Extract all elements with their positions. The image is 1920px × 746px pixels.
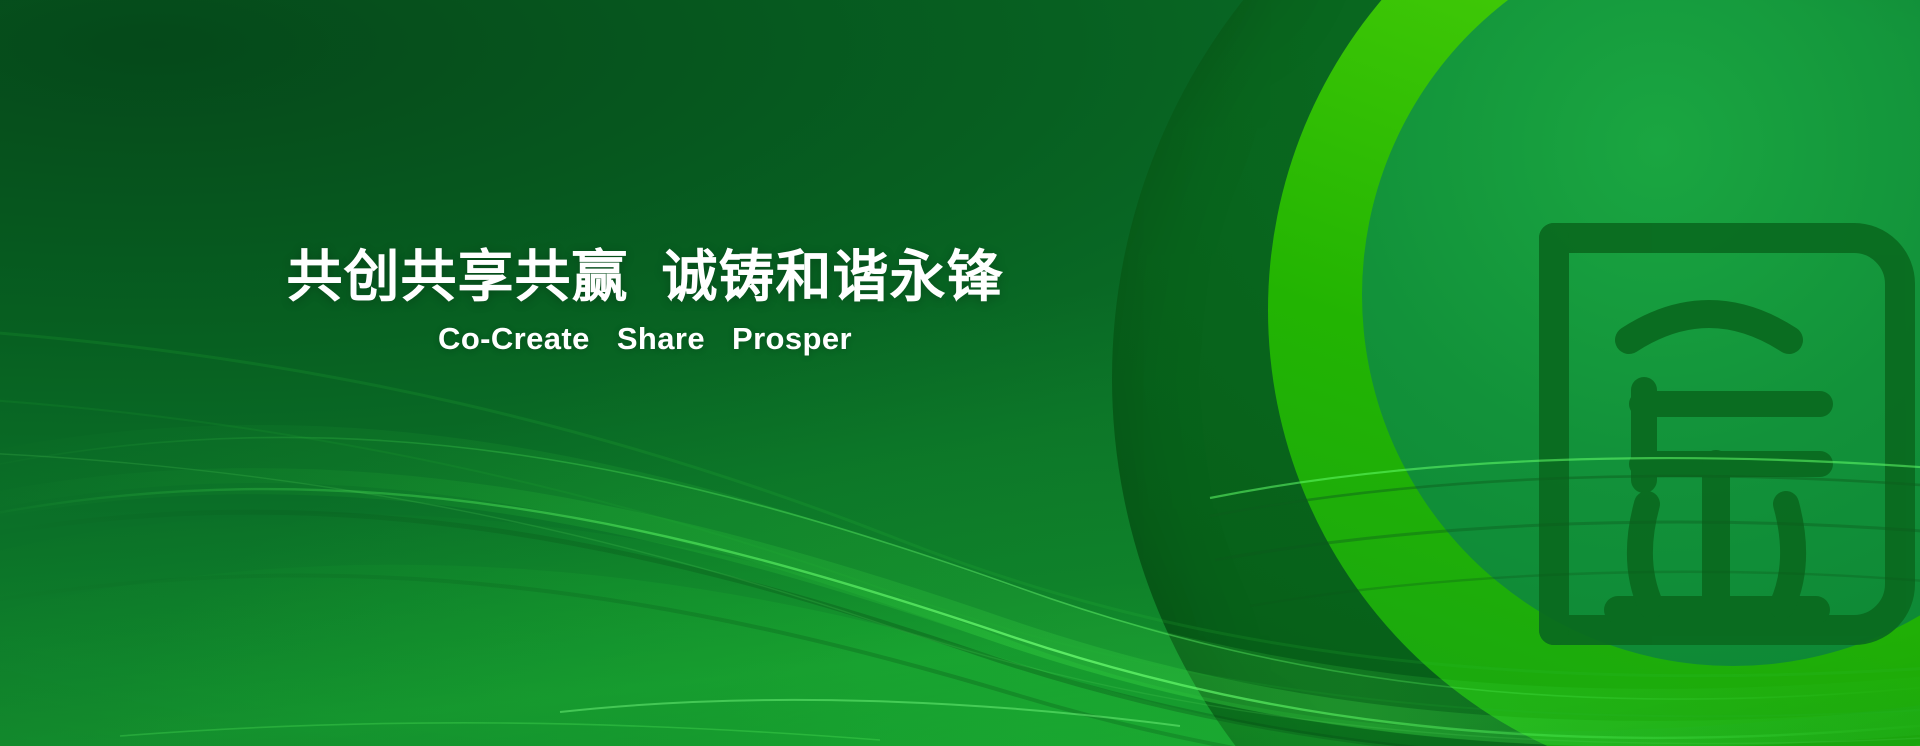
slogan-headline-chinese: 共创共享共赢 诚铸和谐永锋 bbox=[0, 246, 1290, 309]
banner-root: 共创共享共赢 诚铸和谐永锋 Co-Create Share Prosper bbox=[0, 0, 1920, 746]
slogan-subline-english: Co-Create Share Prosper bbox=[0, 321, 1290, 357]
slogan-block: 共创共享共赢 诚铸和谐永锋 Co-Create Share Prosper bbox=[0, 246, 1290, 357]
